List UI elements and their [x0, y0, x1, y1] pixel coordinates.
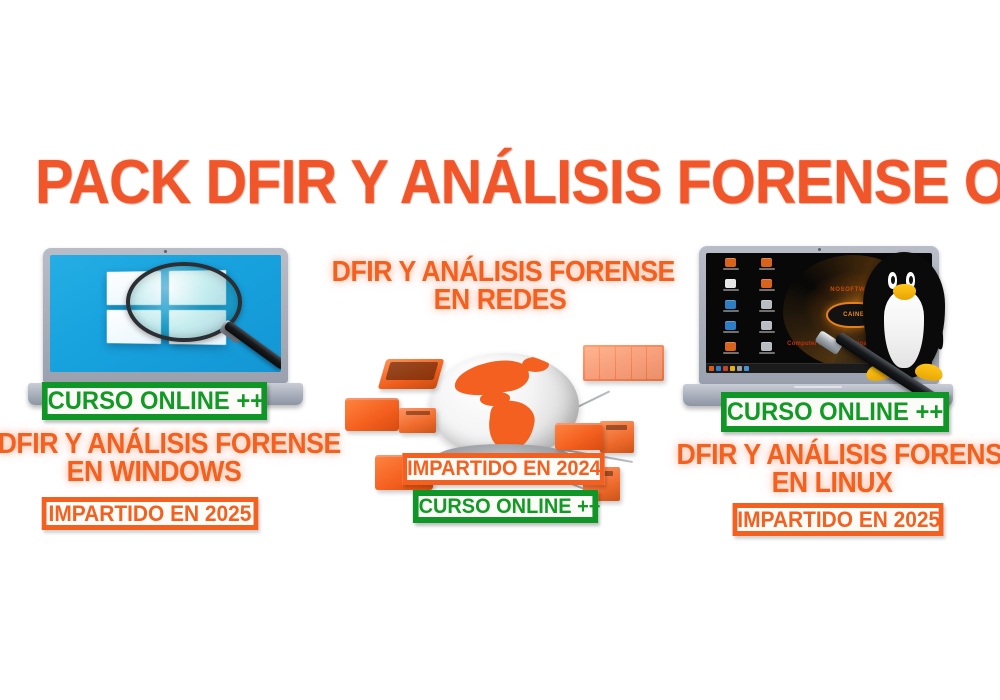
course-title-linux: DFIR Y ANÁLISIS FORENSE EN LINUX — [677, 441, 988, 497]
webcam-dot — [818, 248, 821, 251]
badge-curso-online-windows[interactable]: CURSO ONLINE ++ — [42, 382, 267, 420]
course-card-windows[interactable]: CURSO ONLINE ++ DFIR Y ANÁLISIS FORENSE … — [0, 0, 340, 700]
course-card-linux[interactable]: NOSOFTWARE CAINE Computer Aided INvestig… — [665, 0, 1000, 700]
magnifier-icon — [837, 330, 955, 346]
device-monitor-icon — [345, 398, 399, 430]
webcam-dot — [164, 250, 167, 253]
device-monitor-icon — [555, 423, 603, 450]
badge-curso-online-redes[interactable]: CURSO ONLINE ++ — [413, 490, 598, 523]
course-title-redes: DFIR Y ANÁLISIS FORENSE EN REDES — [332, 258, 669, 314]
course-card-redes[interactable]: DFIR Y ANÁLISIS FORENSE EN REDES — [325, 0, 675, 700]
badge-curso-online-linux[interactable]: CURSO ONLINE ++ — [721, 392, 949, 432]
device-server-rack-icon — [583, 345, 665, 381]
laptop-screen-windows — [50, 255, 281, 372]
device-laptop-icon — [382, 359, 440, 389]
badge-year-linux[interactable]: IMPARTIDO EN 2025 — [733, 503, 944, 536]
course-title-windows: DFIR Y ANÁLISIS FORENSE EN WINDOWS — [0, 430, 310, 486]
laptop-lid — [43, 248, 288, 383]
desktop-icon-grid — [715, 258, 783, 364]
magnifier-icon — [126, 262, 242, 342]
tux-penguin-icon — [850, 243, 958, 393]
badge-year-redes[interactable]: IMPARTIDO EN 2024 — [402, 453, 604, 485]
course-title-line2: EN REDES — [332, 286, 669, 314]
course-title-line2: EN WINDOWS — [0, 458, 310, 486]
promo-banner: PACK DFIR Y ANÁLISIS FORENSE ONLINE++ — [0, 0, 1000, 700]
device-tower-icon — [399, 408, 436, 433]
course-title-line2: EN LINUX — [677, 469, 988, 497]
device-tower-icon — [600, 421, 634, 453]
badge-year-windows[interactable]: IMPARTIDO EN 2025 — [42, 497, 259, 530]
